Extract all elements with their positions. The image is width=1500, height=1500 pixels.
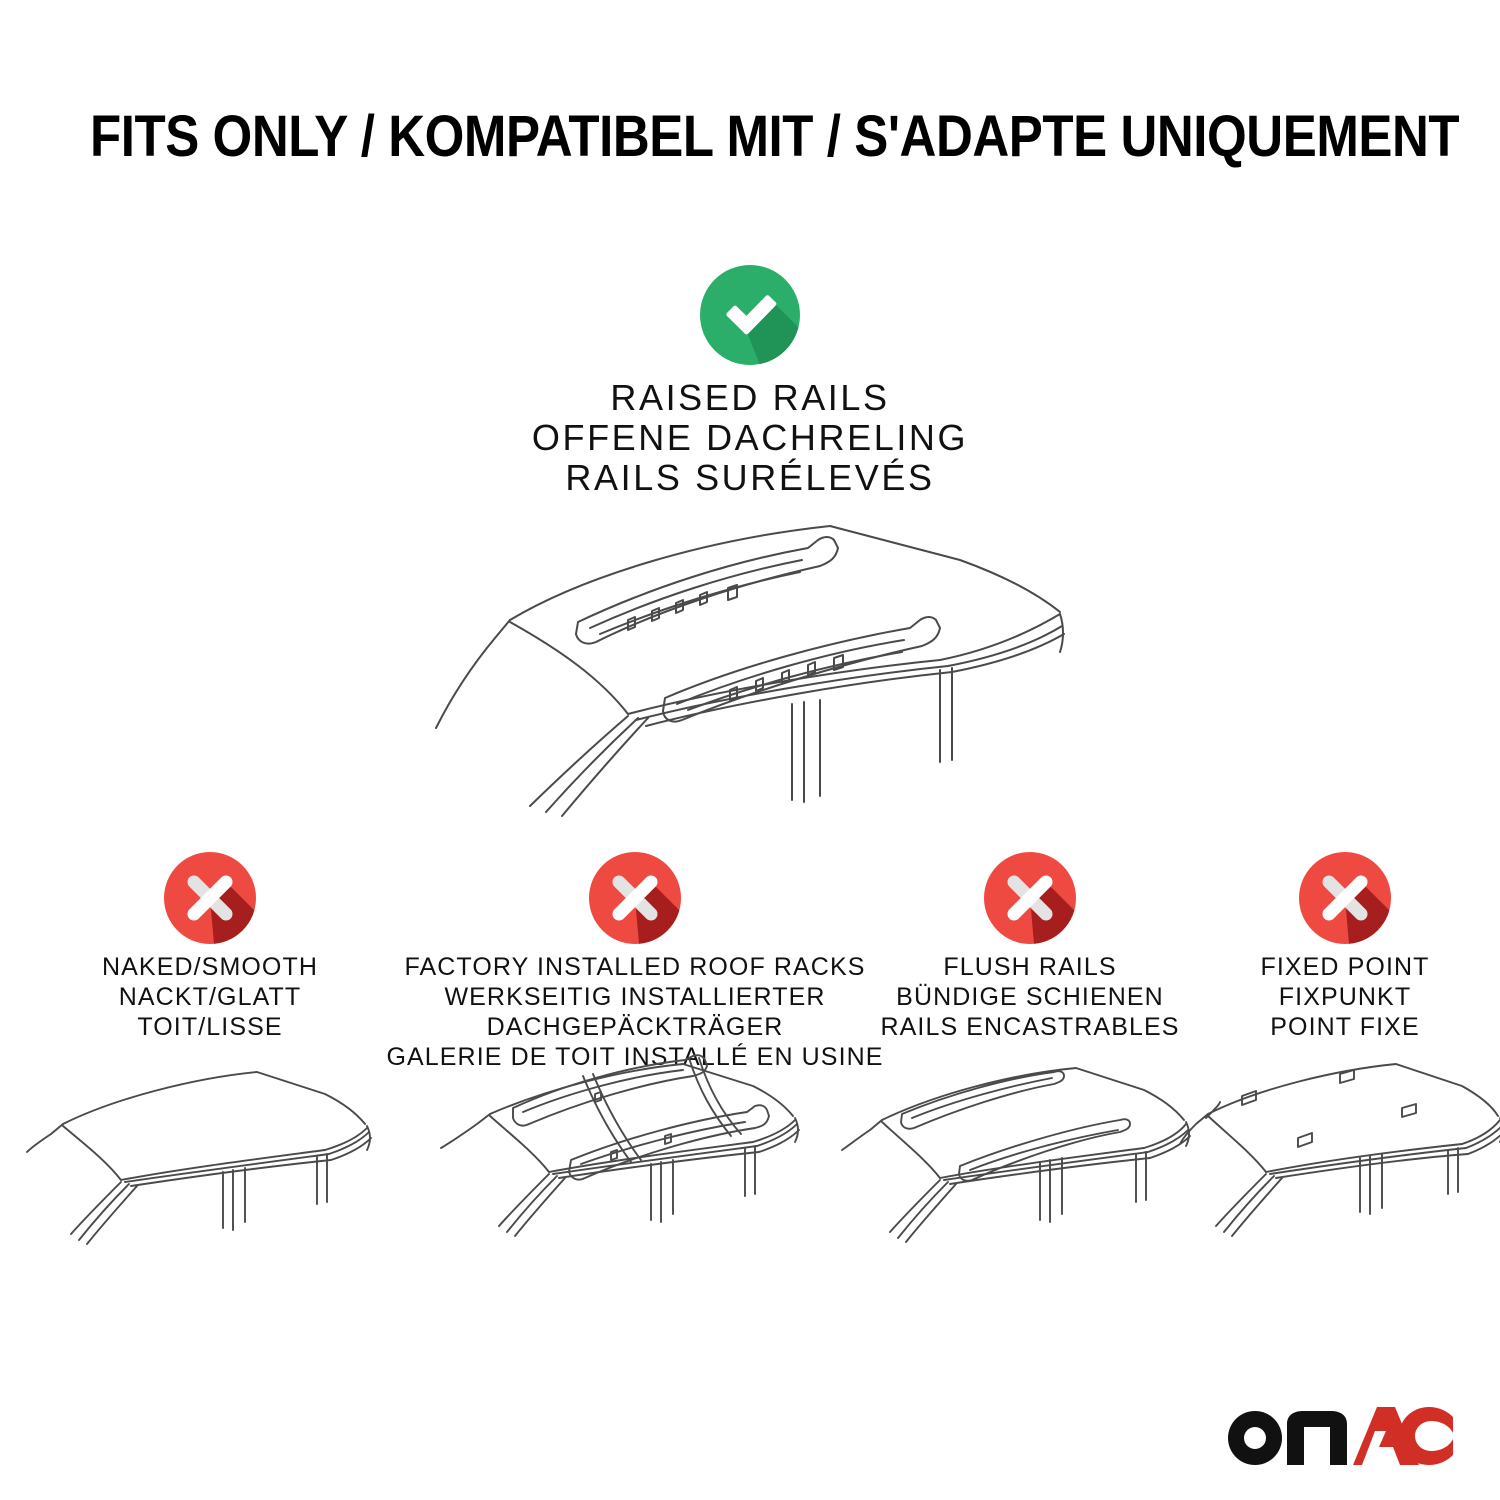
label-line-en: NAKED/SMOOTH (102, 952, 318, 982)
label-line-en: FACTORY INSTALLED ROOF RACKS (386, 952, 883, 982)
car-roof-with-raised-rails-illustration (400, 500, 1100, 830)
column-labels: FLUSH RAILS BÜNDIGE SCHIENEN RAILS ENCAS… (880, 952, 1179, 1042)
car-roof-flush-rails-illustration (840, 1052, 1220, 1292)
label-line-de: BÜNDIGE SCHIENEN (880, 982, 1179, 1012)
x-circle-icon (1299, 852, 1391, 944)
omac-logo (1223, 1405, 1453, 1467)
check-circle-icon (700, 265, 800, 365)
logo-letter-m (1287, 1411, 1347, 1465)
column-labels: FIXED POINT FIXPUNKT POINT FIXE (1260, 952, 1429, 1042)
logo-letter-o (1228, 1411, 1282, 1465)
label-line-de-2: DACHGEPÄCKTRÄGER (386, 1012, 883, 1042)
label-line-en: FLUSH RAILS (880, 952, 1179, 982)
column-labels: NAKED/SMOOTH NACKT/GLATT TOIT/LISSE (102, 952, 318, 1042)
compatible-label-fr: RAILS SURÉLEVÉS (0, 458, 1500, 498)
label-line-fr: POINT FIXE (1260, 1012, 1429, 1042)
label-line-de-1: WERKSEITIG INSTALLIERTER (386, 982, 883, 1012)
label-line-de: NACKT/GLATT (102, 982, 318, 1012)
label-line-de: FIXPUNKT (1260, 982, 1429, 1012)
label-line-en: FIXED POINT (1260, 952, 1429, 982)
label-line-fr: TOIT/LISSE (102, 1012, 318, 1042)
compatible-label-en: RAISED RAILS (0, 378, 1500, 418)
x-circle-icon (984, 852, 1076, 944)
car-roof-naked-smooth-illustration (25, 1052, 395, 1292)
compatible-labels: RAISED RAILS OFFENE DACHRELING RAILS SUR… (0, 378, 1500, 498)
compatible-label-de: OFFENE DACHRELING (0, 418, 1500, 458)
car-roof-fixed-point-illustration (1180, 1052, 1500, 1292)
page-title: FITS ONLY / KOMPATIBEL MIT / S'ADAPTE UN… (90, 104, 1410, 170)
label-line-fr: RAILS ENCASTRABLES (880, 1012, 1179, 1042)
x-circle-icon (589, 852, 681, 944)
car-roof-factory-installed-roof-racks-illustration (435, 1052, 835, 1292)
omac-logo-mark (1223, 1405, 1453, 1467)
x-circle-icon (164, 852, 256, 944)
